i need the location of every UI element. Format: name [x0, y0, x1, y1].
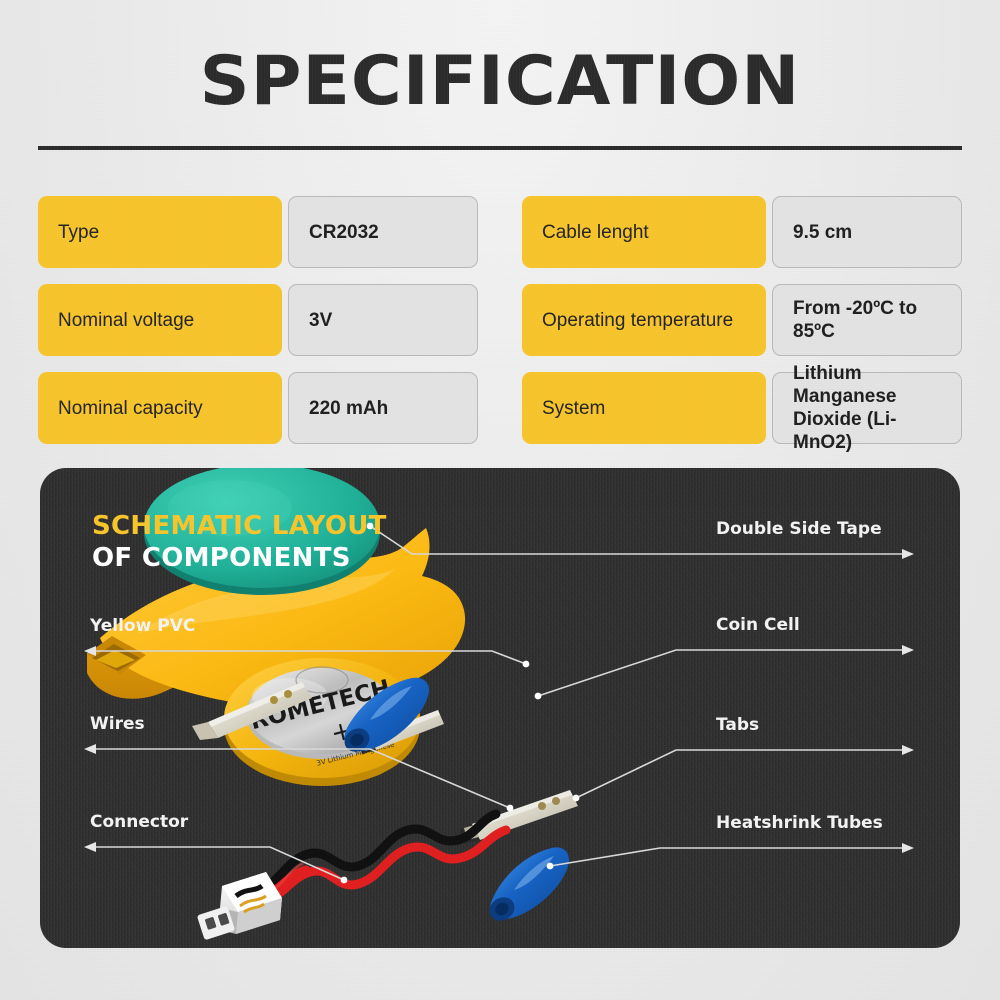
- spec-label: Cable lenght: [522, 196, 766, 268]
- callout-heatshrink-tubes: Heatshrink Tubes: [716, 813, 883, 833]
- spec-label: Nominal capacity: [38, 372, 282, 444]
- schematic-heading-line1: SCHEMATIC LAYOUT: [92, 510, 387, 542]
- spec-value: From -20ºC to 85ºC: [772, 284, 962, 356]
- specification-table: Type CR2032 Nominal voltage 3V Nominal c…: [38, 196, 962, 444]
- callout-tabs: Tabs: [716, 715, 759, 735]
- table-row: Nominal voltage 3V: [38, 284, 478, 356]
- schematic-heading-line2: OF COMPONENTS: [92, 542, 387, 574]
- table-row: Type CR2032: [38, 196, 478, 268]
- header-divider: [38, 146, 962, 150]
- spec-label: Type: [38, 196, 282, 268]
- spec-column-right: Cable lenght 9.5 cm Operating temperatur…: [522, 196, 962, 444]
- spec-label: Nominal voltage: [38, 284, 282, 356]
- spec-label: Operating temperature: [522, 284, 766, 356]
- callout-double-side-tape: Double Side Tape: [716, 519, 882, 539]
- spec-column-left: Type CR2032 Nominal voltage 3V Nominal c…: [38, 196, 478, 444]
- callout-yellow-pvc: Yellow PVC: [90, 616, 195, 636]
- spec-label: System: [522, 372, 766, 444]
- callout-wires: Wires: [90, 714, 145, 734]
- table-row: System Lithium Manganese Dioxide (Li-MnO…: [522, 372, 962, 444]
- callout-coin-cell: Coin Cell: [716, 615, 800, 635]
- table-row: Operating temperature From -20ºC to 85ºC: [522, 284, 962, 356]
- spec-value: CR2032: [288, 196, 478, 268]
- schematic-panel: SCHEMATIC LAYOUT OF COMPONENTS: [40, 468, 960, 948]
- callout-connector: Connector: [90, 812, 188, 832]
- spec-value: 3V: [288, 284, 478, 356]
- spec-column-gap: [478, 196, 522, 444]
- spec-value: 9.5 cm: [772, 196, 962, 268]
- schematic-heading: SCHEMATIC LAYOUT OF COMPONENTS: [92, 510, 387, 574]
- spec-value: 220 mAh: [288, 372, 478, 444]
- infographic-page: SPECIFICATION Type CR2032 Nominal voltag…: [0, 0, 1000, 1000]
- table-row: Cable lenght 9.5 cm: [522, 196, 962, 268]
- page-title: SPECIFICATION: [0, 46, 1000, 118]
- spec-value: Lithium Manganese Dioxide (Li-MnO2): [772, 372, 962, 444]
- table-row: Nominal capacity 220 mAh: [38, 372, 478, 444]
